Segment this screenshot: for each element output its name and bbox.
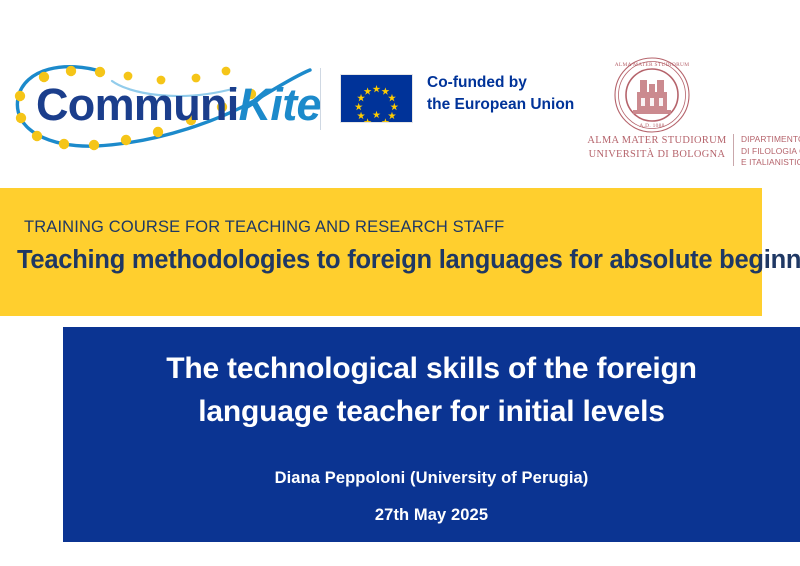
svg-text:ALMA MATER STUDIORUM: ALMA MATER STUDIORUM (615, 62, 690, 68)
course-banner: TRAINING COURSE FOR TEACHING AND RESEARC… (0, 188, 762, 316)
talk-title: The technological skills of the foreign … (63, 348, 800, 433)
communikite-wordmark: CommuniKite (36, 74, 316, 136)
eu-funding-block: Co-funded by the European Union (340, 72, 590, 127)
course-kicker: TRAINING COURSE FOR TEACHING AND RESEARC… (24, 218, 504, 237)
header-divider (320, 68, 321, 130)
talk-speaker: Diana Peppoloni (University of Perugia) (63, 469, 800, 488)
course-title: Teaching methodologies to foreign langua… (17, 246, 800, 275)
university-name: ALMA MATER STUDIORUM UNIVERSITÀ DI BOLOG… (585, 134, 729, 161)
header-logo-bar: CommuniKite (0, 0, 800, 180)
title-panel: The technological skills of the foreign … (63, 327, 800, 542)
unibo-seal-icon: ALMA MATER STUDIORUM A.D. 1088 (613, 56, 691, 134)
wordmark-communi: Communi (36, 79, 239, 130)
communikite-logo: CommuniKite (8, 58, 313, 156)
university-department: DIPARTIMENTO DI FILOLOGIA CLASSICA E ITA… (741, 134, 800, 169)
talk-date: 27th May 2025 (63, 506, 800, 525)
university-block: ALMA MATER STUDIORUM A.D. 1088 ALMA MATE… (585, 56, 790, 156)
wordmark-kite: Kite (239, 79, 321, 130)
svg-text:A.D. 1088: A.D. 1088 (639, 123, 664, 129)
eu-flag-icon (340, 74, 413, 123)
university-divider (733, 134, 734, 166)
eu-funding-statement: Co-funded by the European Union (427, 72, 607, 117)
title-slide: CommuniKite (0, 0, 800, 566)
